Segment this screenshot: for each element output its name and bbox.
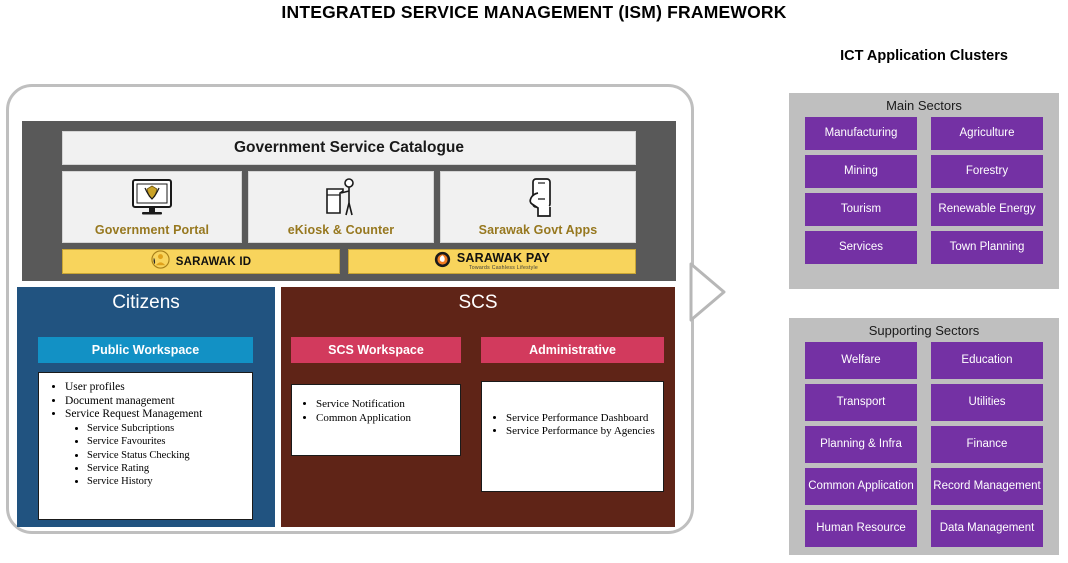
citizens-feature-list: User profiles Document management Servic… bbox=[38, 372, 253, 520]
scs-workspace-feature-list: Service Notification Common Application bbox=[291, 384, 461, 456]
sector-tile[interactable]: Agriculture bbox=[931, 117, 1043, 150]
administrative-list: Service Performance Dashboard Service Pe… bbox=[482, 412, 663, 438]
sarawak-pay-lockup: SARAWAK PAY Towards Cashless Lifestyle bbox=[457, 252, 550, 271]
channel-label: eKiosk & Counter bbox=[288, 223, 394, 237]
sarawak-id-label: SARAWAK ID bbox=[176, 256, 251, 268]
administrative-header[interactable]: Administrative bbox=[481, 337, 664, 363]
sector-tile[interactable]: Town Planning bbox=[931, 231, 1043, 264]
main-sectors-panel: Main Sectors Manufacturing Agriculture M… bbox=[789, 93, 1059, 289]
sector-tile[interactable]: Record Management bbox=[931, 468, 1043, 505]
scs-workspace-header[interactable]: SCS Workspace bbox=[291, 337, 461, 363]
list-item: Service History bbox=[87, 475, 246, 488]
list-item: User profiles bbox=[65, 381, 246, 395]
channel-tile-sarawak-govt-apps[interactable]: Sarawak Govt Apps bbox=[440, 171, 636, 243]
list-item: Service Request Management Service Subcr… bbox=[65, 408, 246, 489]
supporting-sectors-heading: Supporting Sectors bbox=[789, 318, 1059, 342]
list-item: Service Status Checking bbox=[87, 449, 246, 462]
supporting-sectors-grid: Welfare Education Transport Utilities Pl… bbox=[789, 342, 1059, 555]
list-item: Service Subcriptions bbox=[87, 422, 246, 435]
sector-tile[interactable]: Welfare bbox=[805, 342, 917, 379]
hand-phone-icon bbox=[518, 172, 558, 223]
page-title: INTEGRATED SERVICE MANAGEMENT (ISM) FRAM… bbox=[0, 2, 1068, 23]
scs-workspace-list: Service Notification Common Application bbox=[292, 397, 460, 425]
list-item: Service Rating bbox=[87, 462, 246, 475]
list-item: Service Performance by Agencies bbox=[506, 425, 663, 438]
main-sectors-heading: Main Sectors bbox=[789, 93, 1059, 117]
sarawak-pay-label: SARAWAK PAY bbox=[457, 252, 550, 265]
list-item: Service Favourites bbox=[87, 435, 246, 448]
sector-tile[interactable]: Tourism bbox=[805, 193, 917, 226]
sarawak-id-bar[interactable]: SARAWAK ID bbox=[62, 249, 340, 274]
list-item-label: Service Request Management bbox=[65, 408, 202, 420]
sector-tile[interactable]: Transport bbox=[805, 384, 917, 421]
sarawak-pay-bar[interactable]: SARAWAK PAY Towards Cashless Lifestyle bbox=[348, 249, 636, 274]
channel-label: Sarawak Govt Apps bbox=[479, 223, 598, 237]
sector-tile[interactable]: Data Management bbox=[931, 510, 1043, 547]
channel-tile-ekiosk-counter[interactable]: eKiosk & Counter bbox=[248, 171, 434, 243]
flow-arrow-icon bbox=[688, 258, 732, 326]
sarawak-pay-tagline: Towards Cashless Lifestyle bbox=[469, 266, 538, 271]
sector-tile[interactable]: Finance bbox=[931, 426, 1043, 463]
sector-tile[interactable]: Renewable Energy bbox=[931, 193, 1043, 226]
sector-tile[interactable]: Education bbox=[931, 342, 1043, 379]
public-workspace-header[interactable]: Public Workspace bbox=[38, 337, 253, 363]
channel-tile-government-portal[interactable]: Government Portal bbox=[62, 171, 242, 243]
sector-tile[interactable]: Planning & Infra bbox=[805, 426, 917, 463]
sector-tile[interactable]: Human Resource bbox=[805, 510, 917, 547]
list-item: Service Notification bbox=[316, 397, 460, 411]
list-item: Common Application bbox=[316, 411, 460, 425]
supporting-sectors-panel: Supporting Sectors Welfare Education Tra… bbox=[789, 318, 1059, 555]
sector-tile[interactable]: Forestry bbox=[931, 155, 1043, 188]
monitor-crest-icon bbox=[128, 172, 176, 223]
citizens-sub-list: Service Subcriptions Service Favourites … bbox=[65, 422, 246, 489]
main-sectors-grid: Manufacturing Agriculture Mining Forestr… bbox=[789, 117, 1059, 272]
list-item: Service Performance Dashboard bbox=[506, 412, 663, 425]
administrative-feature-list: Service Performance Dashboard Service Pe… bbox=[481, 381, 664, 492]
sarawak-pay-logo-icon bbox=[434, 251, 451, 273]
citizens-list: User profiles Document management Servic… bbox=[39, 381, 246, 489]
sector-tile[interactable]: Mining bbox=[805, 155, 917, 188]
clusters-title: ICT Application Clusters bbox=[789, 48, 1059, 64]
government-service-catalogue-panel: Government Service Catalogue Government … bbox=[22, 121, 676, 281]
sector-tile[interactable]: Common Application bbox=[805, 468, 917, 505]
sector-tile[interactable]: Manufacturing bbox=[805, 117, 917, 150]
citizens-title: Citizens bbox=[17, 292, 275, 314]
sarawak-id-badge-icon bbox=[151, 250, 170, 274]
list-item: Document management bbox=[65, 395, 246, 409]
kiosk-person-icon bbox=[319, 172, 363, 223]
catalogue-title: Government Service Catalogue bbox=[62, 131, 636, 165]
sector-tile[interactable]: Services bbox=[805, 231, 917, 264]
sector-tile[interactable]: Utilities bbox=[931, 384, 1043, 421]
scs-title: SCS bbox=[281, 292, 675, 314]
channel-label: Government Portal bbox=[95, 223, 209, 237]
